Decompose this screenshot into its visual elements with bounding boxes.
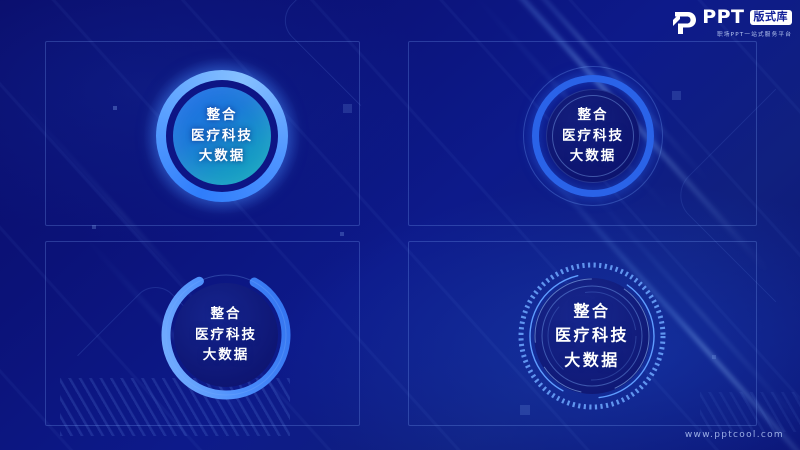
circuit-line xyxy=(669,89,800,303)
circle-label-2: 整合 医疗科技 大数据 xyxy=(523,105,663,167)
circle-label-3: 整合 医疗科技 大数据 xyxy=(158,304,294,366)
accent-dot xyxy=(712,355,716,359)
label-line: 大数据 xyxy=(518,348,666,372)
hatch-pattern xyxy=(700,392,800,432)
logo-subtitle: 职场PPT一站式服务平台 xyxy=(717,30,792,38)
accent-square xyxy=(672,91,681,100)
circuit-line xyxy=(275,0,446,106)
accent-dot xyxy=(113,106,117,110)
label-line: 医疗科技 xyxy=(523,126,663,147)
label-line: 整合 xyxy=(158,304,294,325)
circle-label-1: 整合 医疗科技 大数据 xyxy=(156,105,288,167)
label-line: 大数据 xyxy=(156,146,288,167)
logo-wordmark-block: PPT 版式库 职场PPT一站式服务平台 xyxy=(702,8,792,38)
background-decoration xyxy=(0,0,800,450)
label-line: 整合 xyxy=(523,105,663,126)
slide-canvas: 整合 医疗科技 大数据 整合 医疗科技 大数据 xyxy=(0,0,800,450)
brand-logo[interactable]: PPT 版式库 职场PPT一站式服务平台 xyxy=(671,6,792,40)
circle-item-4[interactable]: 整合 医疗科技 大数据 xyxy=(518,262,666,410)
diagonal-streaks xyxy=(0,0,800,450)
label-line: 医疗科技 xyxy=(156,126,288,147)
label-line: 整合 xyxy=(156,105,288,126)
logo-row: PPT 版式库 xyxy=(702,8,792,27)
logo-wordmark: PPT xyxy=(702,8,744,27)
accent-square xyxy=(343,104,352,113)
circle-item-2[interactable]: 整合 医疗科技 大数据 xyxy=(523,66,663,206)
circle-item-1[interactable]: 整合 医疗科技 大数据 xyxy=(156,70,288,202)
circle-item-3[interactable]: 整合 医疗科技 大数据 xyxy=(158,267,294,403)
footer-url[interactable]: www.pptcool.com xyxy=(685,430,784,440)
accent-dot xyxy=(340,232,344,236)
label-line: 整合 xyxy=(518,300,666,324)
accent-dot xyxy=(92,225,96,229)
label-line: 大数据 xyxy=(523,146,663,167)
label-line: 医疗科技 xyxy=(158,325,294,346)
label-line: 大数据 xyxy=(158,345,294,366)
quadrant-frames xyxy=(0,0,800,450)
ppt-p-monogram-icon xyxy=(671,10,697,36)
circle-label-4: 整合 医疗科技 大数据 xyxy=(518,300,666,373)
logo-badge: 版式库 xyxy=(750,10,793,25)
label-line: 医疗科技 xyxy=(518,324,666,348)
